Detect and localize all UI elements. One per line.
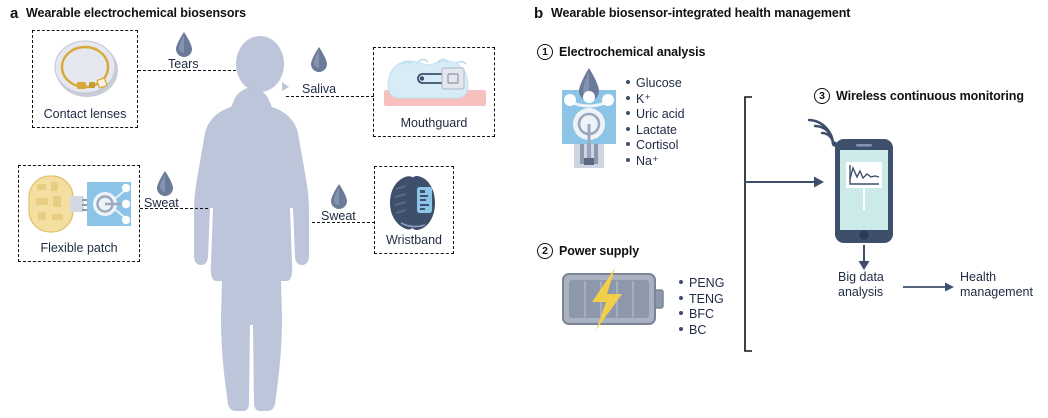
device-box-flexible-patch: Flexible patch	[18, 165, 140, 262]
device-label-mouthguard: Mouthguard	[374, 117, 494, 130]
analyte-list-item: Cortisol	[626, 138, 685, 154]
power-source-list-item: TENG	[679, 292, 724, 308]
bullet-dot	[679, 296, 683, 300]
biofluid-label-tears: Tears	[168, 58, 199, 71]
device-box-wristband: Wristband	[374, 166, 454, 254]
step-1-label: Electrochemical analysis	[559, 46, 705, 59]
arrow-to-big-data	[856, 245, 872, 271]
mouthguard-icon	[382, 56, 488, 108]
power-source-label: TENG	[689, 292, 724, 308]
power-source-list: PENG TENG BFC BC	[679, 276, 724, 338]
device-label-flexible-patch: Flexible patch	[19, 242, 139, 255]
figure-root: a Wearable electrochemical biosensors Co…	[0, 0, 1048, 418]
battery-icon	[562, 268, 664, 330]
arrow-to-phone	[744, 174, 828, 190]
bullet-dot	[679, 327, 683, 331]
electrochemical-sensor-icon	[548, 66, 630, 172]
panel-b-title: Wearable biosensor-integrated health man…	[551, 7, 850, 20]
step-3-number: 3	[814, 88, 830, 104]
device-box-contact-lenses: Contact lenses	[32, 30, 138, 128]
power-source-label: PENG	[689, 276, 724, 292]
analyte-list-item: Lactate	[626, 123, 685, 139]
droplet-icon-saliva	[310, 46, 328, 72]
biofluid-label-sweat-right: Sweat	[321, 210, 356, 223]
output-health-management: Health management	[960, 270, 1033, 300]
analyte-label: Lactate	[636, 123, 677, 139]
grouping-bracket	[738, 96, 754, 352]
analyte-label: Cortisol	[636, 138, 678, 154]
step-2-number: 2	[537, 243, 553, 259]
bullet-dot	[626, 142, 630, 146]
device-label-contact-lenses: Contact lenses	[33, 108, 137, 121]
wristband-icon	[387, 173, 443, 231]
power-source-label: BC	[689, 323, 706, 339]
power-source-list-item: PENG	[679, 276, 724, 292]
output-big-data-analysis: Big data analysis	[838, 270, 884, 300]
step-1-number: 1	[537, 44, 553, 60]
arrow-to-health-management	[903, 280, 957, 294]
step-1-electrochemical-analysis: 1 Electrochemical analysis	[537, 44, 705, 60]
output-line-2: management	[960, 285, 1033, 300]
bullet-dot	[626, 80, 630, 84]
bullet-dot	[679, 280, 683, 284]
output-line-1: Big data	[838, 270, 884, 285]
droplet-icon-sweat-left	[156, 170, 174, 196]
power-source-list-item: BFC	[679, 307, 724, 323]
device-label-wristband: Wristband	[375, 234, 453, 247]
biofluid-label-sweat-left: Sweat	[144, 197, 179, 210]
flexible-patch-icon	[27, 174, 133, 234]
contact-lens-icon	[49, 37, 123, 99]
analyte-label: K⁺	[636, 92, 651, 108]
analyte-list-item: Uric acid	[626, 107, 685, 123]
panel-b-letter: b	[534, 6, 543, 21]
analyte-list-item: Glucose	[626, 76, 685, 92]
device-box-mouthguard: Mouthguard	[373, 47, 495, 137]
droplet-icon-sweat-right	[330, 183, 348, 209]
step-3-wireless-continuous-monitoring: 3 Wireless continuous monitoring	[814, 88, 1024, 104]
step-2-label: Power supply	[559, 245, 639, 258]
analyte-list-item: Na⁺	[626, 154, 685, 170]
output-line-1: Health	[960, 270, 1033, 285]
analyte-label: Uric acid	[636, 107, 685, 123]
analyte-label: Na⁺	[636, 154, 659, 170]
panel-a-title: Wearable electrochemical biosensors	[26, 7, 246, 20]
output-line-2: analysis	[838, 285, 884, 300]
step-2-power-supply: 2 Power supply	[537, 243, 639, 259]
bullet-dot	[626, 111, 630, 115]
power-source-list-item: BC	[679, 323, 724, 339]
connector-saliva	[286, 96, 374, 97]
smartphone-icon	[834, 138, 894, 244]
panel-a-letter: a	[10, 6, 18, 21]
bullet-dot	[626, 158, 630, 162]
bullet-dot	[626, 127, 630, 131]
biofluid-label-saliva: Saliva	[302, 83, 336, 96]
analyte-label: Glucose	[636, 76, 682, 92]
bullet-dot	[626, 96, 630, 100]
analyte-list-item: K⁺	[626, 92, 685, 108]
analyte-list: Glucose K⁺ Uric acid Lactate Cortisol Na…	[626, 76, 685, 169]
power-source-label: BFC	[689, 307, 714, 323]
bullet-dot	[679, 311, 683, 315]
step-3-label: Wireless continuous monitoring	[836, 90, 1024, 103]
droplet-icon-tears	[175, 31, 193, 57]
